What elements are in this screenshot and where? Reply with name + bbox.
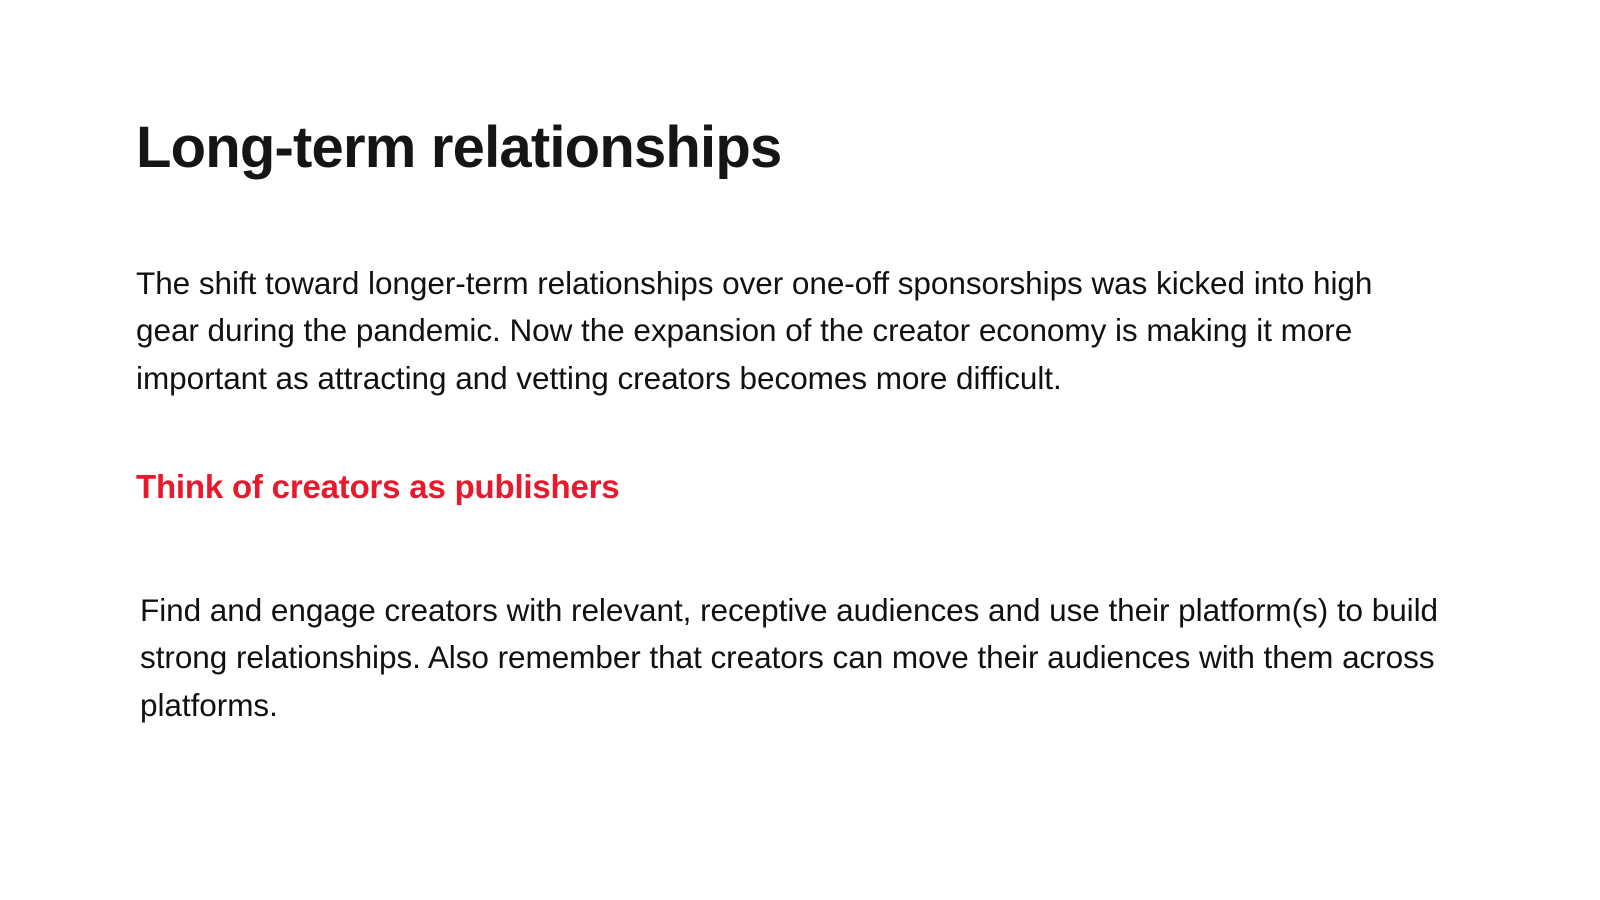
slide-canvas: Long-term relationships The shift toward… — [0, 0, 1600, 900]
section-heading-think-of-creators-as-publishers: Think of creators as publishers — [136, 467, 1436, 507]
page-title: Long-term relationships — [136, 117, 1466, 178]
intro-paragraph: The shift toward longer-term relationshi… — [136, 260, 1436, 403]
detail-paragraph: Find and engage creators with relevant, … — [140, 587, 1476, 730]
